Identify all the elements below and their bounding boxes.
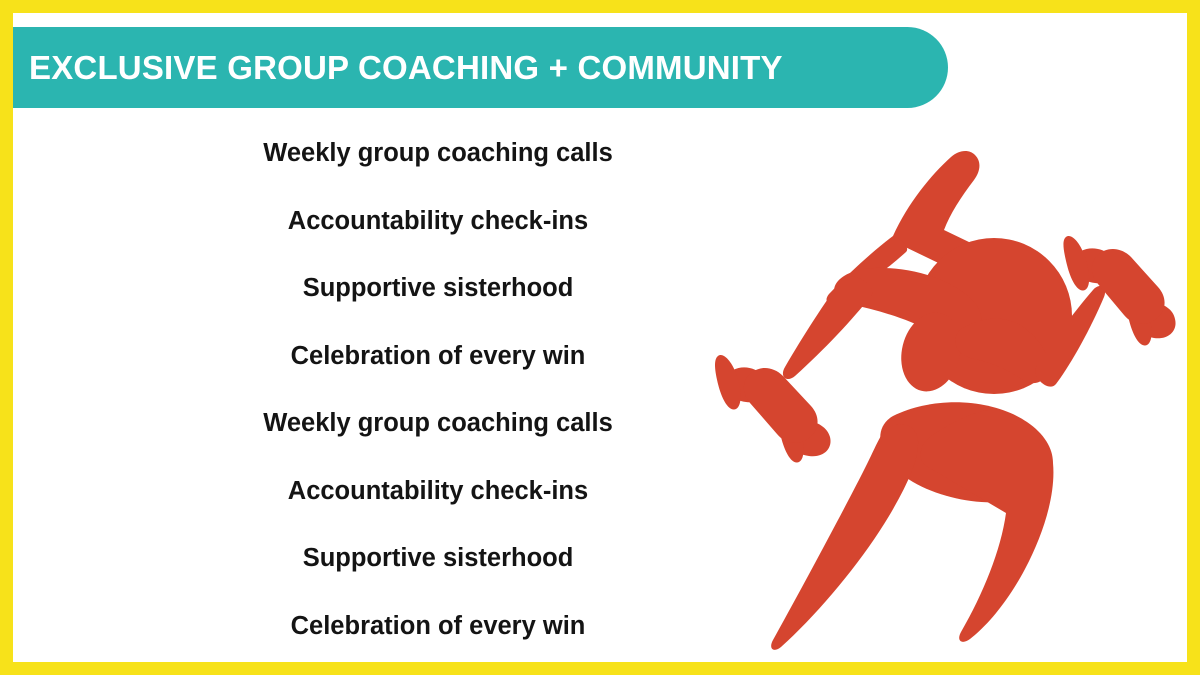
slide-canvas: EXCLUSIVE GROUP COACHING + COMMUNITY Wee… [0, 0, 1200, 675]
list-item: Supportive sisterhood [193, 274, 683, 303]
list-item: Weekly group coaching calls [193, 139, 683, 168]
front-leg-shape [921, 410, 1054, 642]
left-forearm-shape [783, 276, 872, 379]
page-title: EXCLUSIVE GROUP COACHING + COMMUNITY [29, 49, 783, 87]
list-item: Celebration of every win [193, 612, 683, 641]
running-woman-with-dumbbells-icon [703, 131, 1187, 661]
list-item: Celebration of every win [193, 342, 683, 371]
list-item: Accountability check-ins [193, 477, 683, 506]
list-item: Supportive sisterhood [193, 544, 683, 573]
header-banner: EXCLUSIVE GROUP COACHING + COMMUNITY [13, 27, 948, 108]
left-dumbbell-shape [715, 355, 831, 462]
list-item: Weekly group coaching calls [193, 409, 683, 438]
benefits-list: Weekly group coaching calls Accountabili… [193, 120, 683, 660]
slide-inner-area: EXCLUSIVE GROUP COACHING + COMMUNITY Wee… [13, 13, 1187, 662]
list-item: Accountability check-ins [193, 207, 683, 236]
